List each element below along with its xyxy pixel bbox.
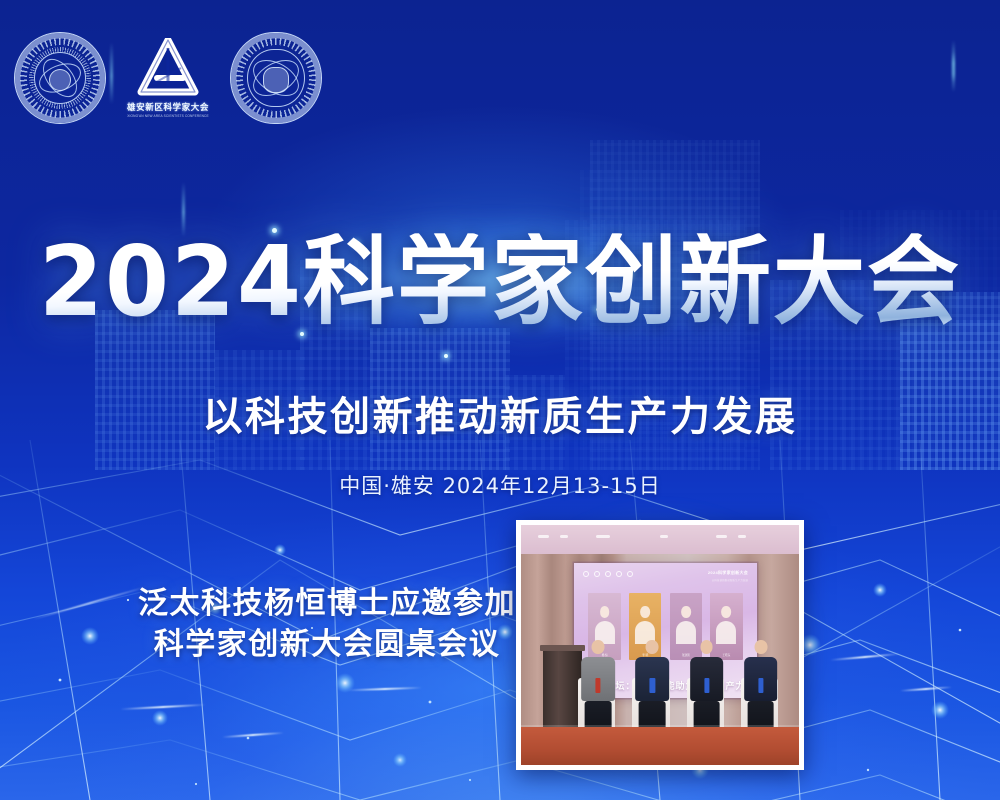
photo-stage xyxy=(521,727,799,765)
panelist xyxy=(739,638,782,734)
page-subtitle: 以科技创新推动新质生产力发展 xyxy=(203,384,798,442)
roundtable-photo: 2024科学家创新大会 以科技创新推动新质生产力发展 杨 恒 李 明 张建国 xyxy=(516,520,804,770)
photo-content: 2024科学家创新大会 以科技创新推动新质生产力发展 杨 恒 李 明 张建国 xyxy=(521,525,799,765)
screen-decor-icon-3 xyxy=(605,571,611,577)
screen-header-title: 2024科学家创新大会 xyxy=(708,570,748,576)
location-and-date: 中国·雄安 2024年12月13-15日 xyxy=(339,470,661,500)
screen-decor-icon-5 xyxy=(627,571,633,577)
conference-poster: 雄安新区科学家大会 XIONG'AN NEW AREA SCIENTISTS C… xyxy=(0,0,1000,800)
seal-logo-oval xyxy=(230,32,322,124)
screen-decor-icon-4 xyxy=(616,571,622,577)
subtitle-block: 以科技创新推动新质生产力发展 xyxy=(0,384,1000,442)
title-block: 2024科学家创新大会 xyxy=(0,236,1000,328)
screen-decor-icon-1 xyxy=(583,571,589,577)
photo-panelists xyxy=(577,638,783,734)
screen-icon-row xyxy=(583,571,633,577)
screen-header-sub: 以科技创新推动新质生产力发展 xyxy=(712,578,748,582)
panelist xyxy=(577,638,620,734)
triangle-emblem-icon xyxy=(137,38,199,96)
triangle-logo: 雄安新区科学家大会 XIONG'AN NEW AREA SCIENTISTS C… xyxy=(124,32,212,124)
triangle-logo-cn-text: 雄安新区科学家大会 xyxy=(127,101,209,113)
caption-line-2: 科学家创新大会圆桌会议 xyxy=(132,624,522,665)
organizer-logos: 雄安新区科学家大会 XIONG'AN NEW AREA SCIENTISTS C… xyxy=(14,32,322,124)
page-title: 2024科学家创新大会 xyxy=(39,233,961,331)
triangle-logo-en-text: XIONG'AN NEW AREA SCIENTISTS CONFERENCE xyxy=(127,114,209,118)
caption-block: 泛太科技杨恒博士应邀参加 科学家创新大会圆桌会议 xyxy=(132,583,522,666)
screen-decor-icon-2 xyxy=(594,571,600,577)
panelist xyxy=(685,638,728,734)
meta-block: 中国·雄安 2024年12月13-15日 xyxy=(0,470,1000,500)
panelist xyxy=(631,638,674,734)
caption-line-1: 泛太科技杨恒博士应邀参加 xyxy=(132,583,522,624)
seal-logo-cast xyxy=(14,32,106,124)
